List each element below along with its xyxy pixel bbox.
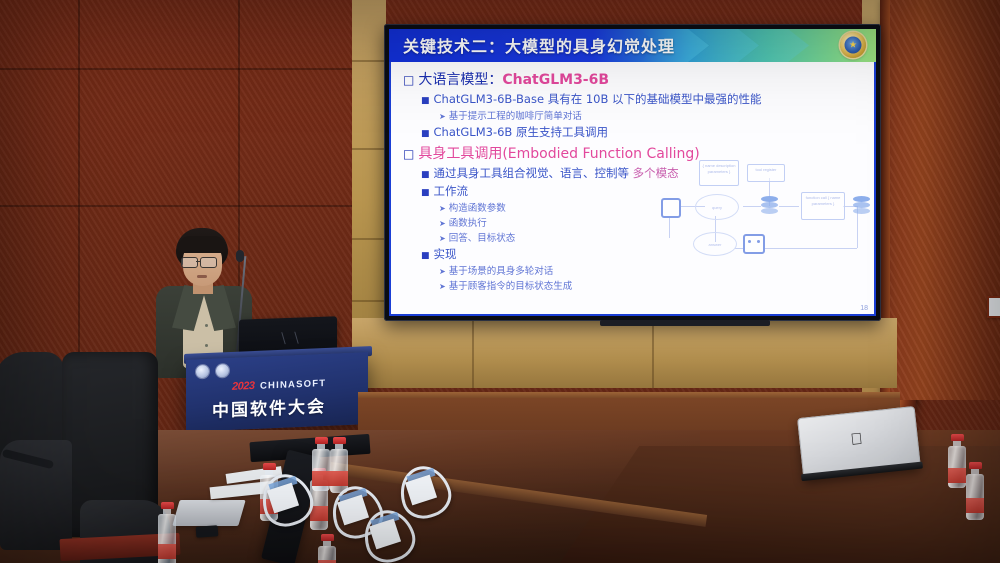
bullet-marker-square-open: □ <box>403 73 414 87</box>
diagram-database-icon <box>853 196 870 216</box>
wall-plaque <box>987 296 1000 318</box>
bullet-marker-arrow: ➤ <box>439 282 446 291</box>
bullet-text: 回答、目标状态 <box>449 233 516 244</box>
bullet-text: 函数执行 <box>449 218 487 229</box>
laptop-logo-icon <box>281 332 298 344</box>
diagram-node-query: query <box>695 194 739 220</box>
bullet-marker-arrow: ➤ <box>439 219 446 228</box>
bullet-text: 基于提示工程的咖啡厅简单对话 <box>449 111 582 122</box>
name-card-holder <box>262 474 306 520</box>
bullet-l1: □大语言模型：ChatGLM3-6B <box>403 69 866 89</box>
name-card-holder <box>400 466 444 512</box>
silver-laptop <box>172 500 245 526</box>
bullet-marker-square-filled: ■ <box>421 96 430 106</box>
bullet-marker-square-filled: ■ <box>421 188 430 198</box>
wall-seam <box>78 0 80 400</box>
presenter-fringe <box>178 236 226 253</box>
bullet-marker-arrow: ➤ <box>439 234 446 243</box>
bullet-accent-text: ChatGLM3-6B <box>502 72 609 88</box>
bullet-text: 工作流 <box>434 184 469 198</box>
slide-flow-diagram: query answer { name description paramete… <box>655 154 870 262</box>
bullet-text: ChatGLM3-6B 原生支持工具调用 <box>434 125 608 139</box>
wall-accent-panel-left <box>352 0 386 360</box>
bullet-marker-square-filled: ■ <box>421 251 430 261</box>
bullet-marker-arrow: ➤ <box>439 267 446 276</box>
diagram-node-answer: answer <box>693 232 737 256</box>
conference-room-scene: 关键技术二：大模型的具身幻觉处理 ★ □大语言模型：ChatGLM3-6B ■C… <box>0 0 1000 563</box>
podium-logos <box>196 364 229 378</box>
bullet-text: 基于顾客指令的目标状态生成 <box>449 281 573 292</box>
presenter-mouth <box>197 275 207 278</box>
water-bottle <box>330 437 348 493</box>
wall-seam <box>0 205 360 207</box>
bullet-marker-arrow: ➤ <box>439 204 446 213</box>
diagram-node-tool-spec: { name description parameters } <box>699 160 739 186</box>
slide-screen: 关键技术二：大模型的具身幻觉处理 ★ □大语言模型：ChatGLM3-6B ■C… <box>389 29 876 316</box>
slide-header-bar: 关键技术二：大模型的具身幻觉处理 ★ <box>389 29 876 62</box>
water-bottle <box>158 502 176 563</box>
wall-lower-band <box>352 318 897 388</box>
event-year: 2023 <box>232 380 254 393</box>
event-name-english: CHINASOFT <box>260 378 326 392</box>
university-emblem-icon: ★ <box>840 32 866 58</box>
diagram-robot-icon <box>743 234 765 254</box>
bullet-l3: ➤基于提示工程的咖啡厅简单对话 <box>439 108 866 122</box>
smartphone <box>196 525 219 538</box>
wood-wall-right <box>890 0 1000 400</box>
bullet-marker-square-filled: ■ <box>421 170 430 180</box>
bullet-marker-square-open: □ <box>403 147 414 161</box>
bullet-marker-square-filled: ■ <box>421 129 430 139</box>
bullet-text: 大语言模型： <box>418 72 502 88</box>
water-bottle <box>318 534 336 563</box>
wall-seam <box>0 68 360 70</box>
eyeglasses-bridge <box>196 261 200 262</box>
name-card-holder <box>364 510 408 556</box>
apple-logo-icon:  <box>850 431 868 451</box>
bullet-text: 基于场景的具身多轮对话 <box>449 266 554 277</box>
slide-title: 关键技术二：大模型的具身幻觉处理 <box>403 33 675 57</box>
bullet-text: 构造函数参数 <box>449 203 506 214</box>
diagram-database-icon <box>761 196 778 216</box>
organization-logo-icon-2 <box>216 364 229 378</box>
slide-body: □大语言模型：ChatGLM3-6B ■ChatGLM3-6B-Base 具有在… <box>389 62 876 316</box>
organization-logo-icon-1 <box>196 365 209 379</box>
bullet-text: ChatGLM3-6B-Base 具有在 10B 以下的基础模型中最强的性能 <box>434 92 762 106</box>
bullet-text: 实现 <box>434 247 457 261</box>
water-bottle <box>312 437 330 491</box>
bullet-text: 具身工具调用 <box>418 146 502 162</box>
bullet-l2: ■ChatGLM3-6B-Base 具有在 10B 以下的基础模型中最强的性能 <box>421 91 866 107</box>
bullet-l3: ➤基于场景的具身多轮对话 <box>439 263 866 277</box>
event-name-chinese: 中国软件大会 <box>212 392 326 422</box>
water-bottle <box>948 434 966 488</box>
eyeglasses-right-lens <box>200 257 217 268</box>
display-stand <box>600 320 770 326</box>
water-bottle <box>966 462 984 520</box>
podium-sign: 2023 CHINASOFT 中国软件大会 <box>186 352 368 432</box>
bullet-l3: ➤基于顾客指令的目标状态生成 <box>439 278 866 292</box>
bullet-l2: ■ChatGLM3-6B 原生支持工具调用 <box>421 124 866 140</box>
slide-page-number: 18 <box>860 305 868 312</box>
bullet-marker-arrow: ➤ <box>439 112 446 121</box>
bullet-text: 通过具身工具组合视觉、语言、控制等 <box>434 166 633 180</box>
diagram-node-function-call: function call { name parameters } <box>801 192 845 220</box>
macbook-laptop:  <box>797 406 921 480</box>
microphone-head <box>236 250 244 262</box>
diagram-node-tool-register: tool register <box>747 164 785 182</box>
eyeglasses-left-lens <box>181 257 198 268</box>
diagram-face-icon <box>661 198 681 218</box>
